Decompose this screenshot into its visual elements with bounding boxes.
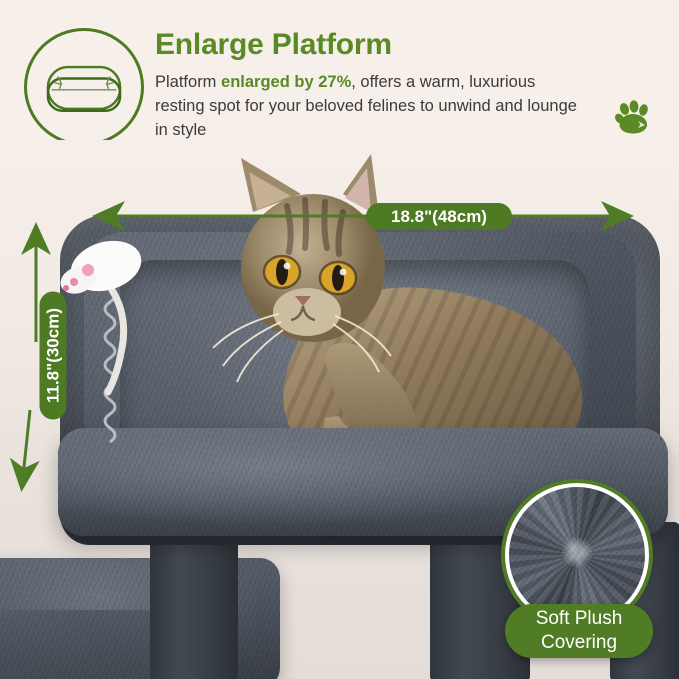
paw-print-icon bbox=[612, 97, 654, 139]
platform-bed-icon bbox=[24, 28, 144, 146]
description-highlight: enlarged by 27% bbox=[221, 73, 351, 91]
feature-description: Platform enlarged by 27%, offers a warm,… bbox=[155, 70, 585, 142]
height-dimension-label: 11.8"(30cm) bbox=[40, 292, 67, 420]
width-dimension-label: 18.8"(48cm) bbox=[366, 203, 512, 230]
product-feature-image: Enlarge Platform Platform enlarged by 27… bbox=[0, 0, 679, 679]
soft-plush-badge: Soft Plush Covering bbox=[505, 604, 653, 658]
page-title: Enlarge Platform bbox=[155, 28, 392, 62]
description-prefix: Platform bbox=[155, 73, 221, 91]
badge-line-2: Covering bbox=[541, 631, 617, 655]
badge-line-1: Soft Plush bbox=[536, 607, 623, 631]
toy-mouse-on-spring bbox=[52, 218, 167, 458]
